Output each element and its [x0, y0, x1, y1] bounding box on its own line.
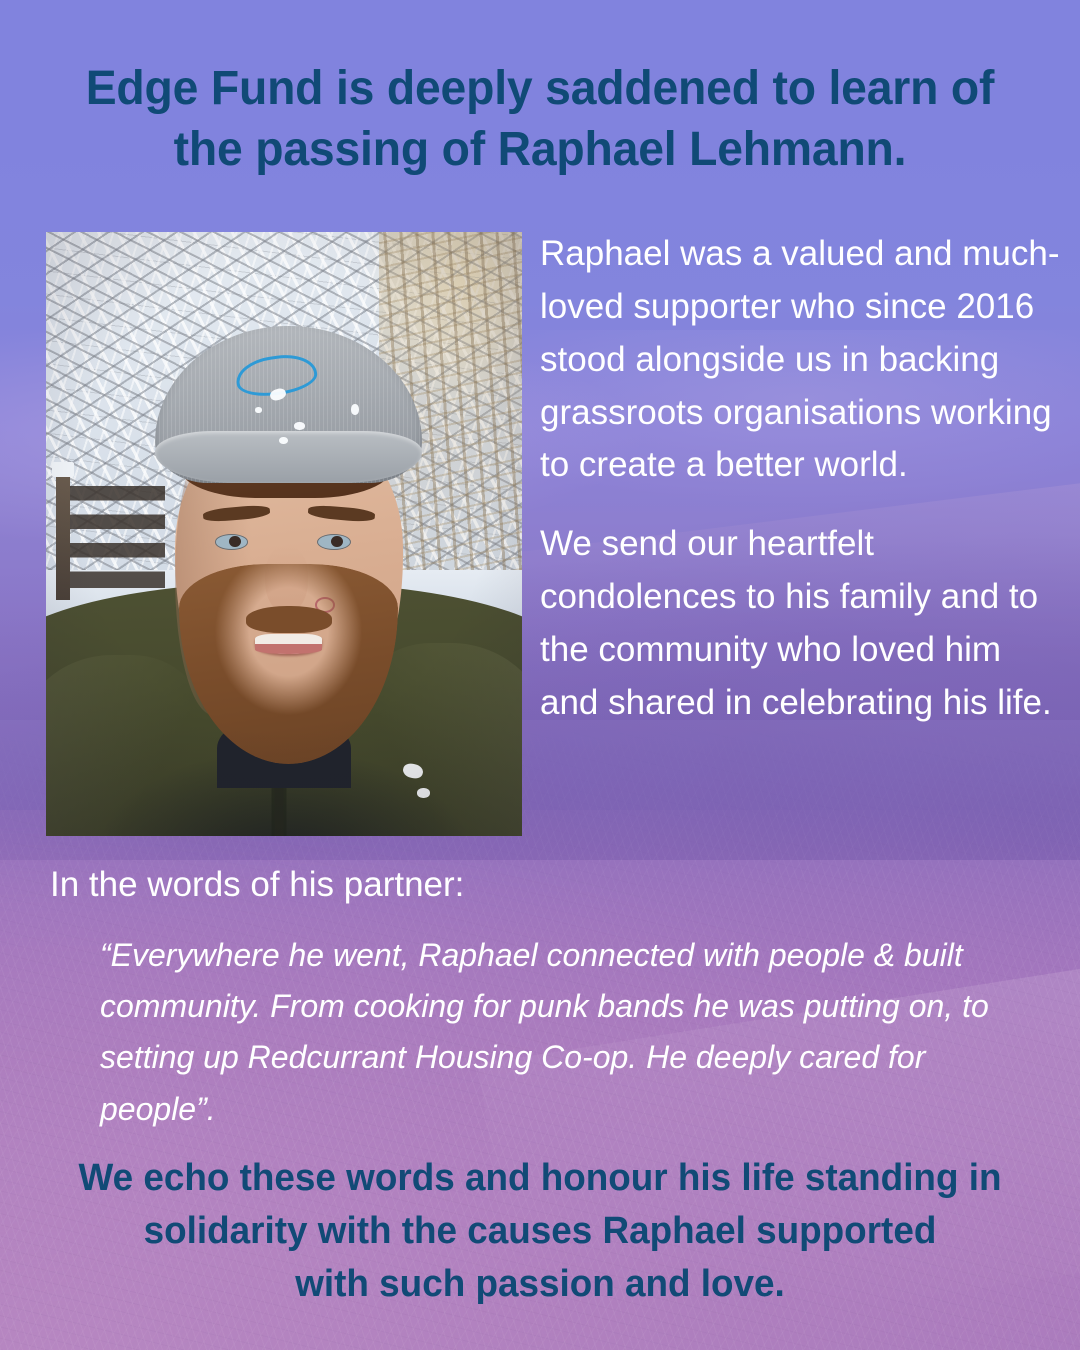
headline-line-1: Edge Fund is deeply saddened to learn of: [86, 62, 995, 115]
partner-quote: “Everywhere he went, Raphael connected w…: [100, 930, 1020, 1135]
page-title: Edge Fund is deeply saddened to learn of…: [50, 58, 1030, 181]
closing-line-3: with such passion and love.: [295, 1263, 785, 1305]
closing-line-2: solidarity with the causes Raphael suppo…: [144, 1210, 937, 1252]
tribute-paragraph-1: Raphael was a valued and much-loved supp…: [540, 228, 1060, 492]
partner-quote-lead: In the words of his partner:: [50, 862, 750, 908]
photo-vignette: [46, 232, 522, 836]
poster-content: Edge Fund is deeply saddened to learn of…: [0, 0, 1080, 1350]
tribute-body: Raphael was a valued and much-loved supp…: [540, 228, 1060, 730]
closing-line-1: We echo these words and honour his life …: [79, 1157, 1002, 1199]
portrait-photo-image: [46, 232, 522, 836]
memorial-poster: Edge Fund is deeply saddened to learn of…: [0, 0, 1080, 1350]
headline-line-2: the passing of Raphael Lehmann.: [174, 123, 907, 176]
tribute-paragraph-2: We send our heartfelt condolences to his…: [540, 518, 1060, 729]
closing-statement: We echo these words and honour his life …: [55, 1152, 1025, 1312]
portrait-photo: [46, 232, 522, 836]
